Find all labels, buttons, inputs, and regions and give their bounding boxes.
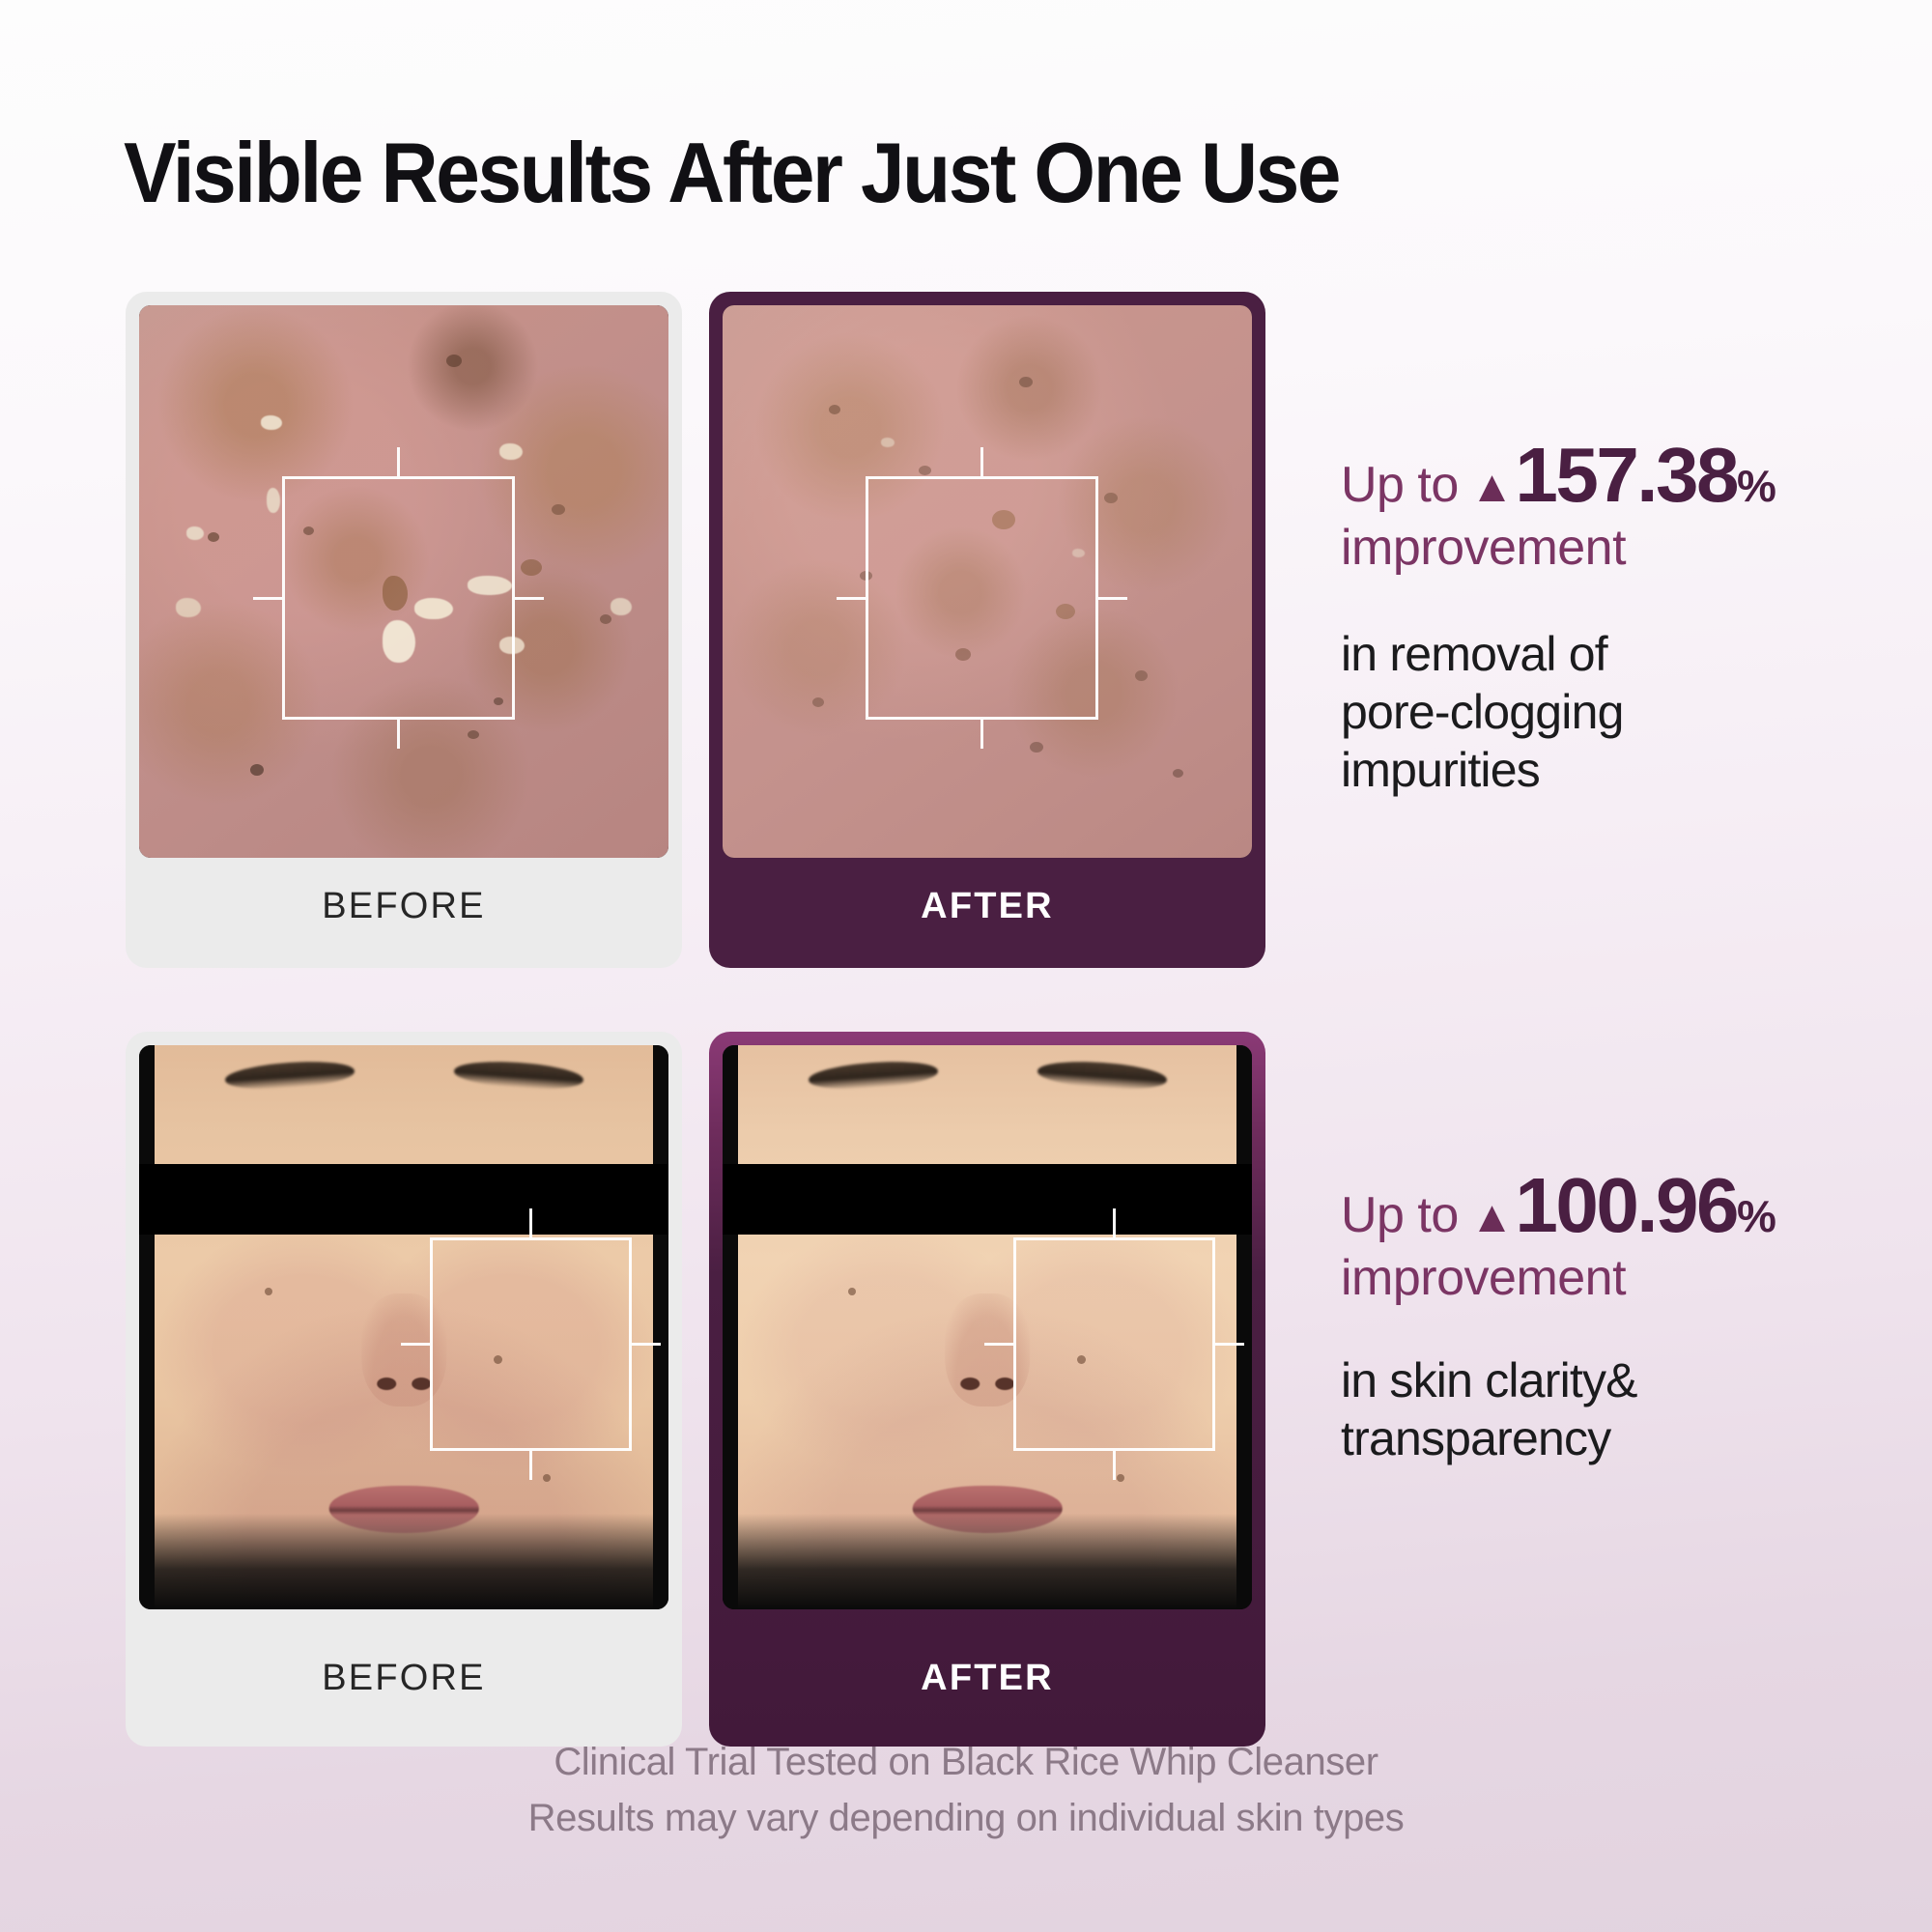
measurement-reticle — [1013, 1237, 1214, 1452]
stat-prefix: Up to — [1341, 1187, 1459, 1243]
measurement-reticle — [866, 476, 1098, 720]
stat-unit: % — [1737, 461, 1776, 511]
face-clarity-after-image — [723, 1045, 1252, 1609]
measurement-reticle — [430, 1237, 631, 1452]
stat-unit: % — [1737, 1191, 1776, 1241]
macro-skin-pores-before-image — [139, 305, 668, 858]
disclaimer-line-1: Clinical Trial Tested on Black Rice Whip… — [0, 1734, 1932, 1790]
stat-value: 100.96 — [1515, 1162, 1737, 1248]
stat-headline: Up to▲100.96% — [1341, 1167, 1776, 1244]
stat-improvement-label: improvement — [1341, 522, 1776, 575]
before-label: BEFORE — [126, 844, 682, 968]
stat-description: in skin clarity& transparency — [1341, 1351, 1776, 1467]
privacy-censor-bar — [139, 1164, 668, 1235]
stat-value: 157.38 — [1515, 432, 1737, 518]
stat-description: in removal of pore-clogging impurities — [1341, 625, 1776, 799]
disclaimer: Clinical Trial Tested on Black Rice Whip… — [0, 1734, 1932, 1846]
increase-triangle-icon: ▲ — [1459, 461, 1516, 511]
page-title: Visible Results After Just One Use — [124, 124, 1339, 222]
after-label: AFTER — [709, 1609, 1265, 1747]
increase-triangle-icon: ▲ — [1459, 1191, 1516, 1241]
stat-block-skin-clarity: Up to▲100.96% improvement in skin clarit… — [1341, 1167, 1776, 1467]
macro-skin-pores-after-image — [723, 305, 1252, 858]
stat-prefix: Up to — [1341, 457, 1459, 513]
stat-headline: Up to▲157.38% — [1341, 437, 1776, 514]
comparison-card-pore-after: AFTER — [709, 292, 1265, 968]
face-clarity-before-image — [139, 1045, 668, 1609]
comparison-card-face-after: AFTER — [709, 1032, 1265, 1747]
comparison-card-pore-before: BEFORE — [126, 292, 682, 968]
stat-block-pore-impurities: Up to▲157.38% improvement in removal of … — [1341, 437, 1776, 799]
comparison-card-face-before: BEFORE — [126, 1032, 682, 1747]
measurement-reticle — [282, 476, 515, 720]
before-label: BEFORE — [126, 1609, 682, 1747]
stat-improvement-label: improvement — [1341, 1252, 1776, 1305]
after-label: AFTER — [709, 844, 1265, 968]
disclaimer-line-2: Results may vary depending on individual… — [0, 1790, 1932, 1846]
privacy-censor-bar — [723, 1164, 1252, 1235]
